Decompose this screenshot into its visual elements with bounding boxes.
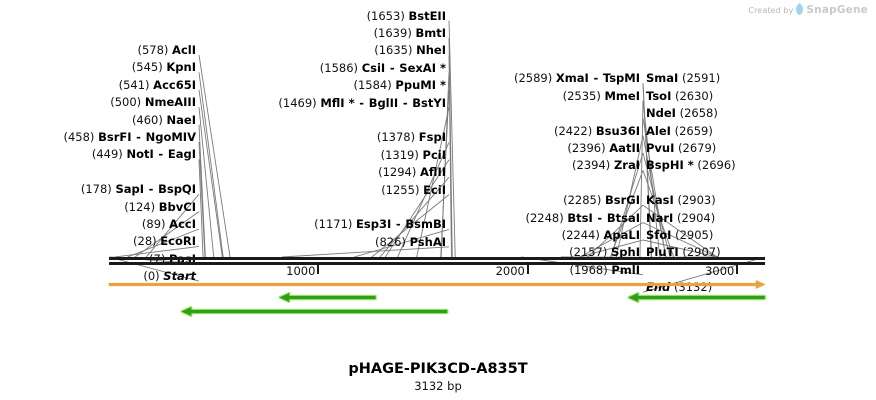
- enzyme-label: BspHI * (2696): [646, 159, 736, 171]
- enzyme-position: (1171): [314, 217, 352, 231]
- enzyme-name: BsmBI: [405, 217, 446, 231]
- enzyme-position: (2535): [563, 89, 601, 103]
- enzyme-label: (2244) ApaLI: [562, 229, 640, 241]
- enzyme-name: AatII: [609, 141, 640, 155]
- enzyme-name: AccI: [169, 217, 196, 231]
- green-feature-3[interactable]: [627, 291, 767, 304]
- enzyme-label: (1968) PmlI: [569, 264, 640, 276]
- enzyme-name: BsrFI: [98, 130, 131, 144]
- enzyme-position: (458): [64, 130, 95, 144]
- enzyme-separator: -: [596, 211, 603, 225]
- enzyme-position: (2658): [680, 106, 718, 120]
- enzyme-position: (2905): [675, 228, 713, 242]
- enzyme-separator: -: [148, 182, 155, 196]
- enzyme-label: (541) Acc65I: [119, 79, 196, 91]
- enzyme-label: NarI (2904): [646, 212, 715, 224]
- feature-arrow: [182, 308, 447, 316]
- enzyme-position: (2591): [682, 71, 720, 85]
- enzyme-position: (1635): [374, 43, 412, 57]
- enzyme-name: PshAI: [410, 235, 446, 249]
- enzyme-name: AleI: [646, 124, 671, 138]
- enzyme-name: EciI: [423, 183, 446, 197]
- enzyme-label: (2589) XmaI - TspMI: [514, 72, 640, 84]
- enzyme-position: (1584): [354, 78, 392, 92]
- enzyme-label: (178) SapI - BspQI: [81, 183, 196, 195]
- green-feature-2[interactable]: [180, 305, 449, 318]
- feature-arrow: [280, 294, 375, 302]
- enzyme-position: (2422): [554, 124, 592, 138]
- enzyme-position: (89): [142, 217, 166, 231]
- enzyme-name: NdeI: [646, 106, 676, 120]
- enzyme-label: (1171) Esp3I - BsmBI: [314, 218, 446, 230]
- enzyme-name: KpnI: [166, 60, 196, 74]
- enzyme-name: BbvCI: [159, 200, 196, 214]
- enzyme-name: Esp3I: [356, 217, 391, 231]
- ruler-label: 1000: [286, 264, 315, 278]
- enzyme-position: (500): [110, 95, 141, 109]
- enzyme-position: (449): [92, 147, 123, 161]
- enzyme-label: (28) EcoRI: [133, 235, 196, 247]
- enzyme-name: ApaLI: [604, 228, 641, 242]
- enzyme-separator: -: [402, 96, 409, 110]
- enzyme-name: SapI: [115, 182, 144, 196]
- enzyme-name: BtsI: [567, 211, 592, 225]
- orange-feature-full[interactable]: [107, 278, 767, 291]
- enzyme-position: (2285): [563, 193, 601, 207]
- enzyme-label: (124) BbvCI: [124, 201, 196, 213]
- enzyme-label: (1378) FspI: [377, 131, 446, 143]
- plasmid-length: 3132 bp: [0, 379, 876, 393]
- enzyme-name: NaeI: [167, 113, 196, 127]
- enzyme-name: ZraI: [614, 158, 640, 172]
- enzyme-name: PpuMI *: [395, 78, 446, 92]
- enzyme-label: (545) KpnI: [132, 61, 196, 73]
- enzyme-position: (1255): [381, 183, 419, 197]
- ruler-tick: [736, 265, 738, 274]
- enzyme-position: (1319): [381, 148, 419, 162]
- enzyme-name: FspI: [419, 130, 446, 144]
- enzyme-label: (460) NaeI: [132, 114, 196, 126]
- page-title: pHAGE-PIK3CD-A835T: [0, 361, 876, 377]
- enzyme-position: (2396): [567, 141, 605, 155]
- enzyme-name: BspQI: [158, 182, 196, 196]
- enzyme-name: NotI: [126, 147, 153, 161]
- enzyme-label: (1584) PpuMI *: [354, 79, 447, 91]
- enzyme-position: (1294): [378, 165, 416, 179]
- enzyme-position: (2679): [678, 141, 716, 155]
- feature-arrow: [109, 281, 765, 289]
- enzyme-label: (458) BsrFI - NgoMIV: [64, 131, 197, 143]
- enzyme-name: BsrGI: [605, 193, 640, 207]
- enzyme-label: NdeI (2658): [646, 107, 718, 119]
- enzyme-label: (89) AccI: [142, 218, 196, 230]
- enzyme-label: (1653) BstEII: [367, 10, 446, 22]
- enzyme-name: XmaI: [556, 71, 589, 85]
- enzyme-label: (826) PshAI: [375, 236, 446, 248]
- plasmid-map: Created by SnapGene (578) AclI(545) KpnI…: [0, 0, 876, 400]
- enzyme-label: (2394) ZraI: [572, 159, 640, 171]
- enzyme-name: SmaI: [646, 71, 678, 85]
- enzyme-name: AflII: [420, 165, 446, 179]
- enzyme-name: Bsu36I: [596, 124, 640, 138]
- enzyme-name: Acc65I: [153, 78, 196, 92]
- enzyme-name: BstEII: [408, 9, 446, 23]
- backbone-strand-top: [109, 257, 765, 260]
- enzyme-name: NarI: [646, 211, 673, 225]
- enzyme-position: (2903): [677, 193, 715, 207]
- ruler-tick: [317, 265, 319, 274]
- enzyme-label: (2422) Bsu36I: [554, 125, 640, 137]
- enzyme-separator: -: [157, 147, 164, 161]
- enzyme-label: (2535) MmeI: [563, 90, 640, 102]
- enzyme-position: (124): [124, 200, 155, 214]
- enzyme-position: (578): [137, 43, 168, 57]
- leader-line: [640, 101, 643, 257]
- enzyme-name: NmeAIII: [145, 95, 196, 109]
- enzyme-separator: -: [395, 217, 402, 231]
- enzyme-label: (1586) CsiI - SexAI *: [320, 62, 446, 74]
- enzyme-name: BglII: [369, 96, 399, 110]
- enzyme-name: BtsaI: [607, 211, 640, 225]
- ruler-tick: [527, 265, 529, 274]
- enzyme-label: (500) NmeAIII: [110, 96, 196, 108]
- enzyme-label: (578) AclI: [137, 44, 196, 56]
- enzyme-label: (1639) BmtI: [374, 27, 446, 39]
- enzyme-name: NheI: [416, 43, 446, 57]
- enzyme-name: PvuI: [646, 141, 674, 155]
- enzyme-position: (460): [132, 113, 163, 127]
- enzyme-name: TspMI: [603, 71, 640, 85]
- enzyme-separator: -: [592, 71, 599, 85]
- enzyme-name: BspHI *: [646, 158, 694, 172]
- enzyme-name: KasI: [646, 193, 674, 207]
- enzyme-position: (545): [132, 60, 163, 74]
- enzyme-name: EcoRI: [160, 234, 196, 248]
- enzyme-position: (1586): [320, 61, 358, 75]
- enzyme-name: MmeI: [604, 89, 640, 103]
- enzyme-label: PvuI (2679): [646, 142, 716, 154]
- leader-line: [199, 90, 222, 257]
- enzyme-label: (449) NotI - EagI: [92, 148, 196, 160]
- enzyme-position: (2696): [697, 158, 735, 172]
- enzyme-position: (826): [375, 235, 406, 249]
- enzyme-label: (1255) EciI: [381, 184, 446, 196]
- backbone-strand-bottom: [109, 262, 765, 265]
- enzyme-label: SmaI (2591): [646, 72, 720, 84]
- enzyme-separator: -: [389, 61, 396, 75]
- enzyme-name: AclI: [172, 43, 196, 57]
- green-feature-1[interactable]: [278, 291, 377, 304]
- enzyme-position: (1469): [278, 96, 316, 110]
- enzyme-name: BstYI: [412, 96, 446, 110]
- enzyme-label: (2248) BtsI - BtsaI: [525, 212, 640, 224]
- enzyme-position: (178): [81, 182, 112, 196]
- enzyme-position: (2904): [677, 211, 715, 225]
- enzyme-name: MflI *: [320, 96, 354, 110]
- enzyme-name: TsoI: [646, 89, 671, 103]
- enzyme-name: NgoMIV: [146, 130, 196, 144]
- enzyme-label: (2285) BsrGI: [563, 194, 640, 206]
- enzyme-name: CsiI: [362, 61, 386, 75]
- enzyme-position: (2394): [572, 158, 610, 172]
- enzyme-separator: -: [135, 130, 142, 144]
- enzyme-position: (1639): [374, 26, 412, 40]
- enzyme-label: (1469) MflI * - BglII - BstYI: [278, 97, 446, 109]
- enzyme-separator: -: [358, 96, 365, 110]
- enzyme-label: (1294) AflII: [378, 166, 446, 178]
- enzyme-position: (2589): [514, 71, 552, 85]
- feature-arrow: [629, 294, 765, 302]
- enzyme-label: TsoI (2630): [646, 90, 713, 102]
- enzyme-label: KasI (2903): [646, 194, 716, 206]
- enzyme-name: EagI: [168, 147, 196, 161]
- enzyme-position: (2659): [675, 124, 713, 138]
- enzyme-position: (1378): [377, 130, 415, 144]
- enzyme-position: (28): [133, 234, 157, 248]
- enzyme-label: (1635) NheI: [374, 44, 446, 56]
- enzyme-name: SexAI *: [399, 61, 446, 75]
- enzyme-position: (541): [119, 78, 150, 92]
- ruler-label: 3000: [705, 264, 734, 278]
- enzyme-position: (1653): [367, 9, 405, 23]
- enzyme-name: BmtI: [415, 26, 446, 40]
- enzyme-label: SfoI (2905): [646, 229, 713, 241]
- enzyme-name: SfoI: [646, 228, 671, 242]
- enzyme-position: (2244): [562, 228, 600, 242]
- enzyme-position: (2248): [525, 211, 563, 225]
- ruler-label: 2000: [496, 264, 525, 278]
- enzyme-label: (1319) PciI: [381, 149, 446, 161]
- enzyme-label: (2396) AatII: [567, 142, 640, 154]
- enzyme-label: AleI (2659): [646, 125, 713, 137]
- enzyme-name: PciI: [423, 148, 446, 162]
- enzyme-position: (2630): [675, 89, 713, 103]
